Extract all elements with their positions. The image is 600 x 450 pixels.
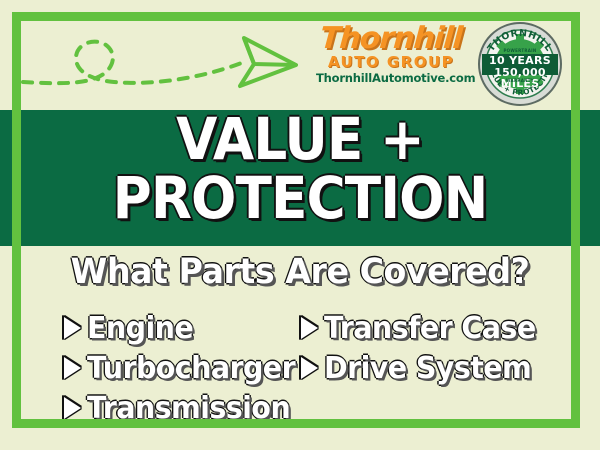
headline-line-1: VALUE + (24, 112, 576, 167)
list-item-label: Turbocharger (87, 351, 295, 386)
covered-parts-column-right: Transfer Case Drive System (301, 308, 551, 388)
logo-subtitle-text: AUTO GROUP (316, 55, 466, 70)
advertisement-banner: Thornhill AUTO GROUP ThornhillAutomotive… (0, 0, 600, 450)
list-item-label: Transfer Case (324, 311, 536, 346)
header-strip: Thornhill AUTO GROUP ThornhillAutomotive… (0, 0, 600, 110)
list-item-label: Transmission (87, 391, 290, 426)
list-item: Drive System (301, 348, 551, 388)
paper-plane-arrow-icon (240, 38, 296, 86)
logo-brand-text: Thornhill (315, 24, 467, 54)
logo-website-url: ThornhillAutomotive.com (316, 73, 466, 85)
triangle-bullet-icon (64, 357, 81, 379)
dashed-loop-path-icon (18, 20, 298, 105)
covered-parts-column-left: Engine Turbocharger Transmission (64, 308, 319, 428)
list-item: Engine (64, 308, 319, 348)
list-item: Transmission (64, 388, 319, 428)
thornhill-logo: Thornhill AUTO GROUP ThornhillAutomotive… (316, 24, 466, 85)
list-item-label: Engine (87, 311, 193, 346)
triangle-bullet-icon (301, 317, 318, 339)
triangle-bullet-icon (64, 397, 81, 419)
covered-parts-list: Engine Turbocharger Transmission Transfe… (24, 308, 576, 428)
list-item-label: Drive System (324, 351, 531, 386)
seal-years-label: 10 YEARS (478, 55, 562, 66)
list-item: Turbocharger (64, 348, 319, 388)
seal-warranty-label: WARRANTY (478, 79, 562, 83)
seal-powertrain-label: POWERTRAIN (478, 49, 562, 53)
list-item: Transfer Case (301, 308, 551, 348)
triangle-bullet-icon (301, 357, 318, 379)
warranty-seal-badge: THORNHILL VALUE + PROTECTION POWERTRAIN … (478, 22, 562, 106)
headline-line-2: PROTECTION (24, 171, 576, 226)
headline: VALUE + PROTECTION (0, 112, 600, 225)
question-heading: What Parts Are Covered? (15, 252, 585, 292)
triangle-bullet-icon (64, 317, 81, 339)
